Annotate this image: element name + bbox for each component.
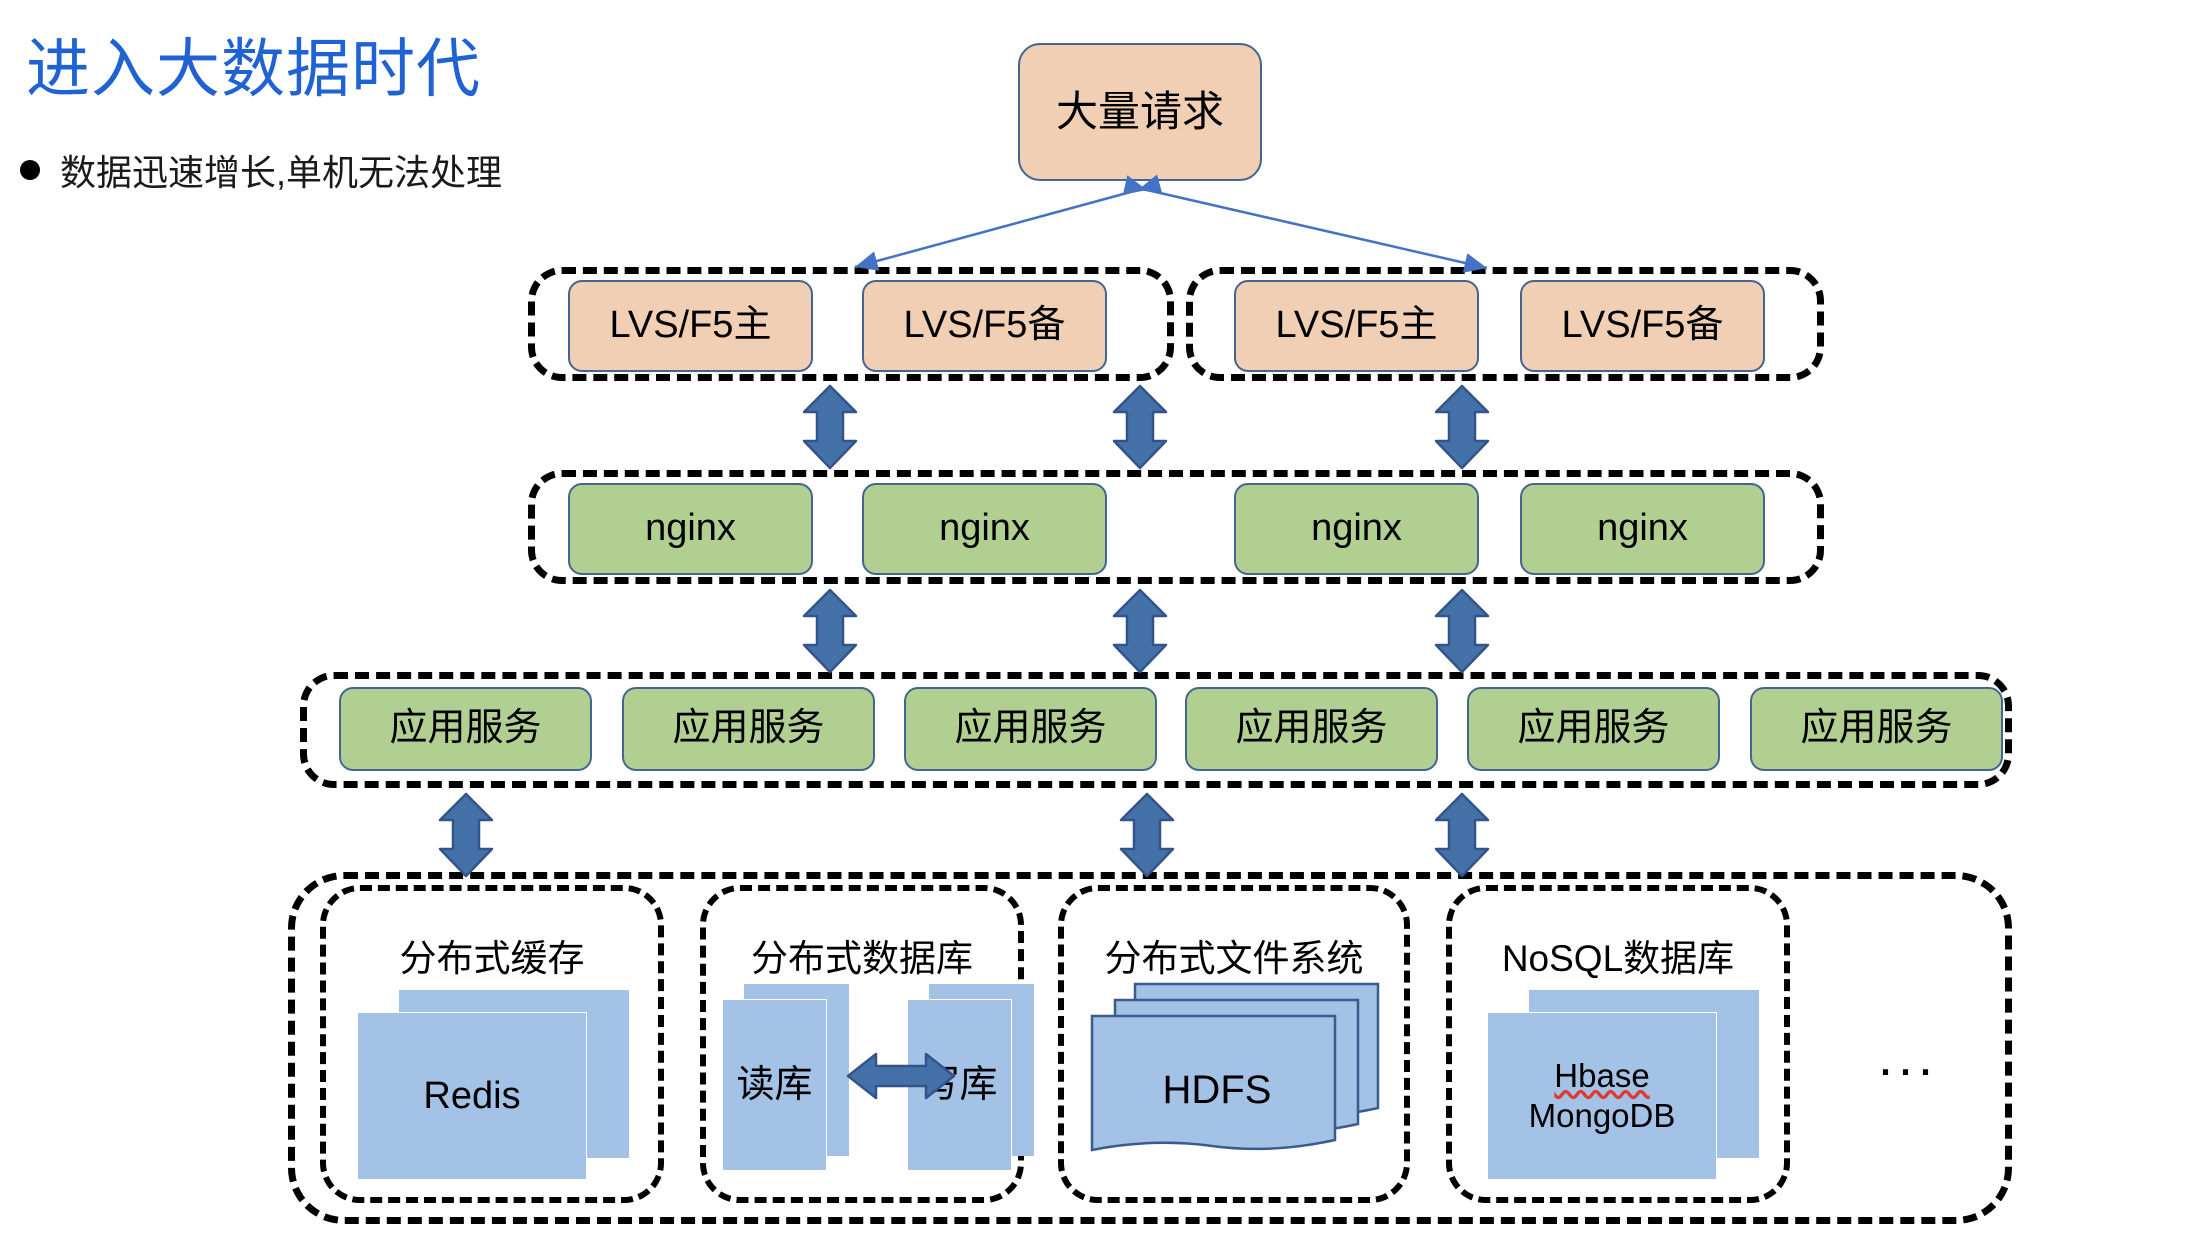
storage-item-label-hdfs: HDFS: [1092, 1010, 1342, 1170]
bullet-dot-icon: [20, 160, 40, 180]
storage-item-text-write-db: 写库: [921, 1062, 997, 1108]
connector-app-to-storage-a: [440, 794, 492, 876]
storage-item-text-mongodb: MongoDB: [1529, 1096, 1676, 1136]
slide-canvas: 进入大数据时代 数据迅速增长,单机无法处理 大量请求 LVS/F5主 LVS/F…: [0, 0, 2194, 1248]
node-lvs-f5-master-left[interactable]: LVS/F5主: [568, 280, 813, 372]
node-app-service-1[interactable]: 应用服务: [339, 687, 592, 771]
section-title-database: 分布式数据库: [694, 928, 1030, 982]
bullet-item-label: 数据迅速增长,单机无法处理: [60, 144, 502, 196]
section-title-nosql: NoSQL数据库: [1442, 928, 1794, 982]
bullet-list-item: 数据迅速增长,单机无法处理: [20, 144, 502, 196]
storage-item-label-write-db: 写库: [907, 999, 1012, 1171]
connector-entry-to-lvs-right: [1147, 190, 1487, 268]
node-nginx-2[interactable]: nginx: [862, 483, 1107, 575]
connector-nginx-to-app-a: [804, 590, 856, 672]
node-nginx-1[interactable]: nginx: [568, 483, 813, 575]
connector-lvs-right-to-nginx-a: [1436, 386, 1488, 468]
node-app-service-6[interactable]: 应用服务: [1750, 687, 2003, 771]
connector-app-to-storage-b: [1121, 794, 1173, 876]
node-lvs-f5-master-right[interactable]: LVS/F5主: [1234, 280, 1479, 372]
connector-nginx-to-app-b: [1114, 590, 1166, 672]
connector-app-to-storage-c: [1436, 794, 1488, 876]
storage-item-label-read-db: 读库: [722, 999, 827, 1171]
page-title: 进入大数据时代: [26, 34, 481, 104]
node-app-service-4[interactable]: 应用服务: [1185, 687, 1438, 771]
section-title-filesystem: 分布式文件系统: [1050, 928, 1418, 982]
node-lvs-f5-backup-left[interactable]: LVS/F5备: [862, 280, 1107, 372]
node-app-service-2[interactable]: 应用服务: [622, 687, 875, 771]
connector-entry-to-lvs-left: [855, 190, 1138, 267]
storage-item-text-read-db: 读库: [736, 1062, 812, 1108]
node-app-service-5[interactable]: 应用服务: [1467, 687, 1720, 771]
storage-item-text-hdfs: HDFS: [1163, 1066, 1272, 1115]
storage-item-text-redis: Redis: [423, 1073, 520, 1119]
storage-item-text-hbase: Hbase: [1554, 1056, 1649, 1096]
node-massive-requests[interactable]: 大量请求: [1018, 43, 1262, 181]
node-nginx-3[interactable]: nginx: [1234, 483, 1479, 575]
node-lvs-f5-backup-right[interactable]: LVS/F5备: [1520, 280, 1765, 372]
storage-item-label-nosql: Hbase MongoDB: [1487, 1012, 1717, 1180]
storage-item-label-redis: Redis: [357, 1012, 587, 1180]
node-nginx-4[interactable]: nginx: [1520, 483, 1765, 575]
section-title-cache: 分布式缓存: [320, 928, 664, 982]
storage-overflow-ellipsis: ...: [1878, 1030, 1938, 1084]
node-app-service-3[interactable]: 应用服务: [904, 687, 1157, 771]
connector-lvs-left-to-nginx-a: [804, 386, 856, 468]
connector-nginx-to-app-c: [1436, 590, 1488, 672]
connector-lvs-left-to-nginx-b: [1114, 386, 1166, 468]
